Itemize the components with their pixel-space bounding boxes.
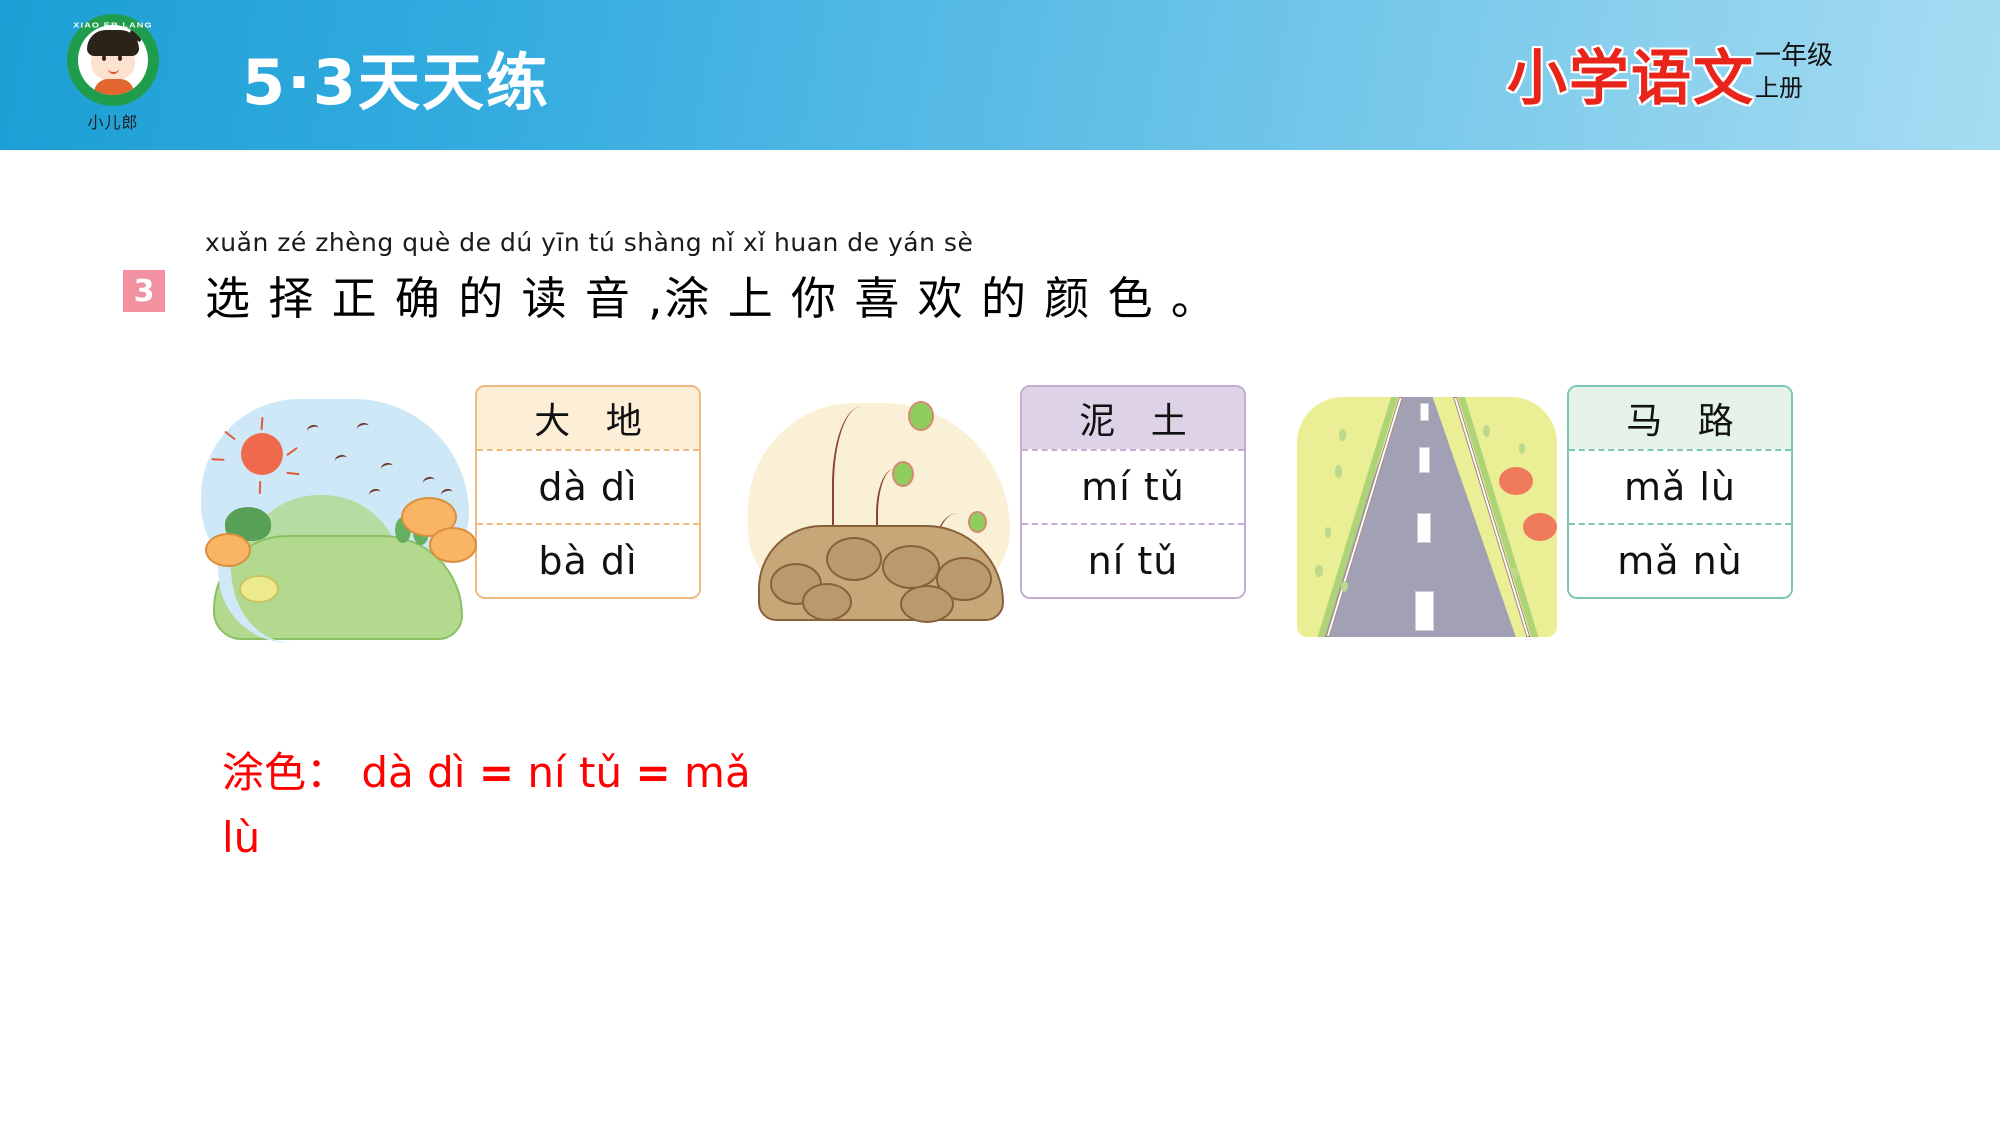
- exercise-item-2: 泥 土 mí tǔ ní tǔ: [740, 385, 1246, 645]
- brand-logo: XIAO ER LANG 小儿郎: [57, 14, 169, 136]
- word-label-3: 马 路: [1569, 387, 1791, 449]
- landscape-illustration: [195, 385, 475, 645]
- exercise-item-1: 大 地 dà dì bà dì: [195, 385, 701, 645]
- option-1-b[interactable]: bà dì: [477, 525, 699, 597]
- option-2-a[interactable]: mí tǔ: [1022, 451, 1244, 523]
- option-3-a[interactable]: mǎ lù: [1569, 451, 1791, 523]
- answer-word-1: dà dì: [361, 748, 465, 797]
- brand-title: 5·3天天练: [242, 32, 550, 122]
- logo-caption: 小儿郎: [87, 109, 138, 133]
- answer-equals-2: =: [635, 748, 670, 797]
- word-label-2: 泥 土: [1022, 387, 1244, 449]
- soil-illustration: [740, 385, 1020, 645]
- boy-face-icon: [78, 25, 148, 95]
- option-3-b[interactable]: mǎ nù: [1569, 525, 1791, 597]
- subject-title: 小学语文: [1507, 30, 1755, 117]
- word-card-1[interactable]: 大 地 dà dì bà dì: [475, 385, 701, 599]
- road-illustration: [1287, 385, 1567, 645]
- logo-badge-icon: XIAO ER LANG: [67, 14, 159, 106]
- question-pinyin: xuǎn zé zhèng què de dú yīn tú shàng nǐ …: [205, 228, 973, 257]
- word-card-3[interactable]: 马 路 mǎ lù mǎ nù: [1567, 385, 1793, 599]
- option-1-a[interactable]: dà dì: [477, 451, 699, 523]
- grade-label: 一年级: [1755, 40, 1855, 73]
- question-text: 选 择 正 确 的 读 音 ,涂 上 你 喜 欢 的 颜 色 。: [205, 262, 1218, 327]
- grade-block: 一年级 上册: [1755, 40, 1855, 103]
- exercise-items: 大 地 dà dì bà dì 泥 土 mí tǔ: [195, 385, 1865, 665]
- option-2-b[interactable]: ní tǔ: [1022, 525, 1244, 597]
- answer-equals-1: =: [479, 748, 514, 797]
- answer-annotation: 涂色： dà dì = ní tǔ = mǎ lù: [222, 740, 782, 870]
- page-header: XIAO ER LANG 小儿郎 5·3天天练 小学语文 一年级 上册: [0, 0, 2000, 150]
- volume-label: 上册: [1755, 73, 1855, 103]
- word-card-2[interactable]: 泥 土 mí tǔ ní tǔ: [1020, 385, 1246, 599]
- answer-word-2: ní tǔ: [527, 748, 622, 797]
- word-label-1: 大 地: [477, 387, 699, 449]
- exercise-item-3: 马 路 mǎ lù mǎ nù: [1287, 385, 1793, 645]
- answer-label: 涂色：: [222, 748, 348, 797]
- question-number-badge: 3: [123, 270, 165, 312]
